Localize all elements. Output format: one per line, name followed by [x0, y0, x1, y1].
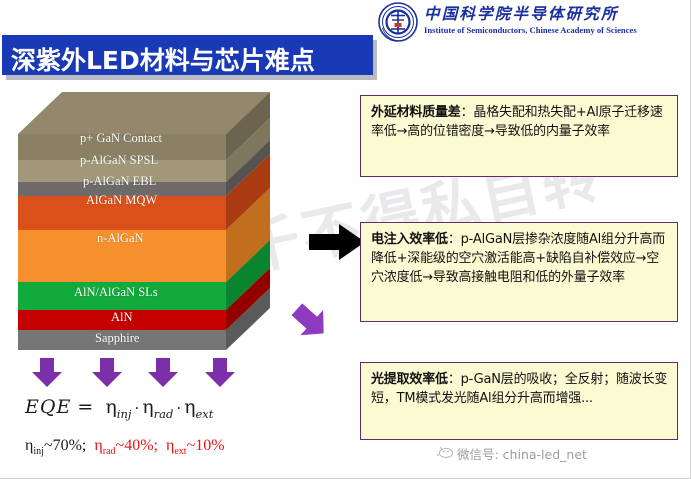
- efficiency-values: ηinj~70%; ηrad~40%; ηext~10%: [25, 437, 225, 457]
- layer-label-aln: AlN: [111, 310, 133, 325]
- callout-box-light-extraction: 光提取效率低：p-GaN层的吸收；全反射；随波长变短，TM模式发光随Al组分升高…: [360, 362, 678, 440]
- formula-dot-2: ·: [173, 399, 184, 417]
- eta-inj-value: ~70%;: [44, 437, 86, 454]
- slide-canvas: 中国科学院半导体研究所 Institute of Semiconductors,…: [0, 0, 691, 479]
- formula-lhs: EQE: [25, 396, 71, 418]
- wechat-bird-icon: [437, 445, 455, 459]
- callout-heading-injection-efficiency: 电注入效率低: [371, 232, 448, 247]
- callout-colon-2: ：: [448, 232, 461, 247]
- layer-label-p-algan-ebl: p-AlGaN EBL: [83, 174, 156, 189]
- callout-box-material-quality: 外延材料质量差：晶格失配和热失配+Al原子迁移速率低→高的位错密度→导致低的内量…: [360, 95, 678, 177]
- formula-sub-inj: inj: [117, 407, 132, 421]
- purple-diagonal-arrow-icon: [288, 300, 334, 344]
- layer-label-aln-algan-sls: AlN/AlGaN SLs: [74, 285, 158, 300]
- callout-heading-light-extraction: 光提取效率低: [371, 372, 448, 387]
- eta-inj-sub: inj: [33, 446, 44, 457]
- eta-rad-value: ~40%;: [116, 437, 158, 454]
- formula-equals: =: [77, 396, 93, 418]
- formula-sub-ext: ext: [196, 407, 214, 421]
- callout-colon-1: ：: [461, 105, 474, 120]
- eta-ext-sub: ext: [174, 446, 186, 457]
- formula-eta-1: η: [105, 396, 116, 418]
- formula-dot-1: ·: [131, 399, 142, 417]
- formula-sub-rad: rad: [154, 407, 174, 421]
- eta-rad-sub: rad: [103, 446, 116, 457]
- formula-eta-2: η: [142, 396, 153, 418]
- callout-colon-3: ：: [448, 372, 461, 387]
- efficiency-down-arrows: [24, 358, 239, 388]
- layer-label-p-algan-spsl: p-AlGaN SPSL: [80, 153, 158, 168]
- eta-ext-value: ~10%: [187, 437, 225, 454]
- institute-name-cn: 中国科学院半导体研究所: [424, 2, 619, 24]
- slide-header: 中国科学院半导体研究所 Institute of Semiconductors,…: [378, 1, 690, 41]
- callout-heading-material-quality: 外延材料质量差: [371, 105, 461, 120]
- layer-label-n-algan: n-AlGaN: [97, 231, 144, 246]
- wechat-watermark-text: 微信号: china-led_net: [457, 444, 587, 463]
- formula-eta-3: η: [184, 396, 195, 418]
- callout-box-injection-efficiency: 电注入效率低：p-AlGaN层掺杂浓度随Al组分升高而降低+深能级的空穴激活能高…: [360, 222, 678, 322]
- layer-label-sapphire: Sapphire: [95, 331, 139, 346]
- layer-label-algan-mqw: AlGaN MQW: [86, 193, 157, 208]
- eta-rad-symbol: η: [94, 437, 102, 454]
- layer-label-p-gan-contact: p+ GaN Contact: [80, 131, 162, 146]
- black-right-arrow-icon: [309, 222, 365, 262]
- epitaxial-layer-stack-diagram: p+ GaN Contact p-AlGaN SPSL p-AlGaN EBL …: [18, 92, 270, 350]
- eqe-formula: EQE = ηinj·ηrad·ηext: [25, 396, 213, 421]
- institute-emblem-icon: [378, 2, 418, 42]
- page-title: 深紫外LED材料与芯片难点: [11, 41, 315, 77]
- institute-name-en: Institute of Semiconductors, Chinese Aca…: [424, 25, 637, 35]
